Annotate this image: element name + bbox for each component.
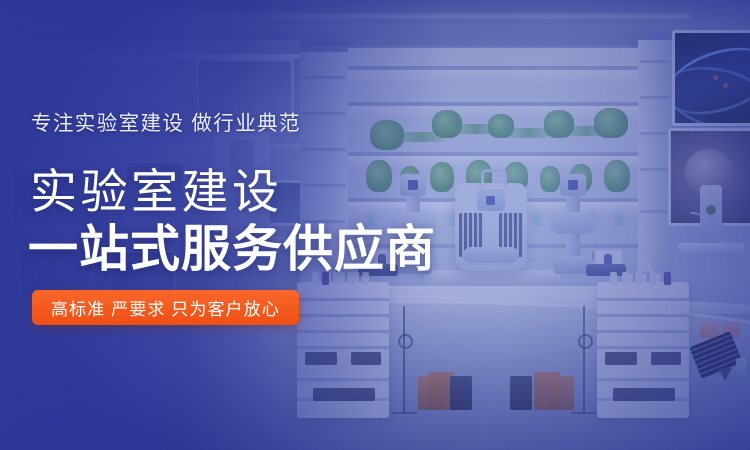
quality-promise-badge[interactable]: 高标准 严要求 只为客户放心	[32, 290, 299, 325]
banner-text-content: 专注实验室建设 做行业典范 实验室建设 一站式服务供应商 高标准 严要求 只为客…	[0, 0, 420, 450]
badge-label: 高标准 严要求 只为客户放心	[51, 295, 280, 320]
headline-line-2: 一站式服务供应商	[28, 224, 436, 274]
laboratory-promo-banner: 专注实验室建设 做行业典范 实验室建设 一站式服务供应商 高标准 严要求 只为客…	[0, 0, 750, 450]
headline-line-1: 实验室建设	[30, 168, 283, 215]
banner-subtitle: 专注实验室建设 做行业典范	[31, 106, 301, 136]
